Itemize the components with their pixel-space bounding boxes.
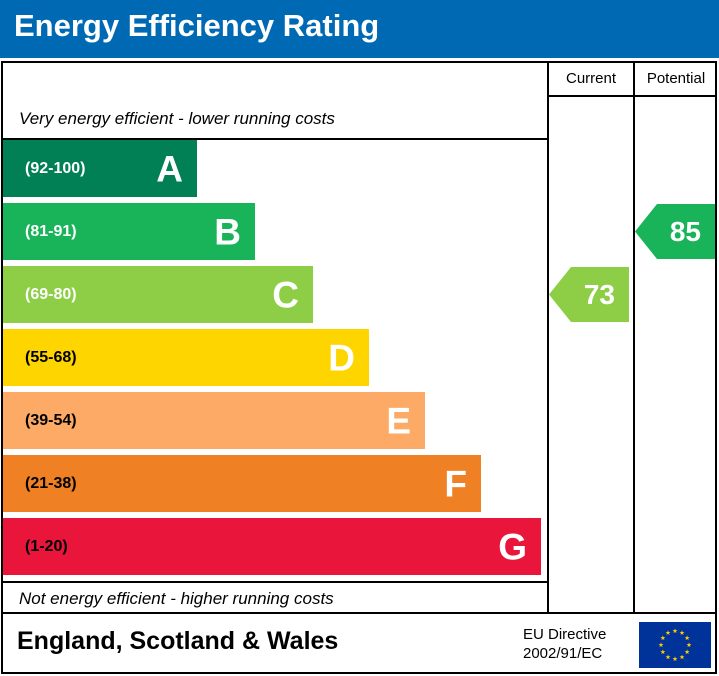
potential-rating-arrow: 85 bbox=[635, 204, 715, 259]
page-title: Energy Efficiency Rating bbox=[14, 8, 379, 44]
current-rating-value: 73 bbox=[584, 279, 615, 311]
eu-directive-line1: EU Directive bbox=[523, 625, 606, 644]
band-b: (81-91)B bbox=[3, 203, 255, 260]
band-letter-f: F bbox=[444, 465, 467, 502]
band-range-g: (1-20) bbox=[25, 538, 68, 556]
header-row-divider bbox=[547, 95, 717, 97]
chart-frame: Current Potential Very energy efficient … bbox=[1, 61, 717, 614]
band-d: (55-68)D bbox=[3, 329, 369, 386]
band-range-f: (21-38) bbox=[25, 475, 77, 493]
band-f: (21-38)F bbox=[3, 455, 481, 512]
column-header-current: Current bbox=[549, 70, 633, 87]
epc-certificate: Energy Efficiency Rating Current Potenti… bbox=[0, 0, 719, 676]
band-letter-d: D bbox=[328, 339, 355, 376]
band-letter-a: A bbox=[156, 150, 183, 187]
eu-directive-text: EU Directive 2002/91/EC bbox=[523, 625, 606, 663]
band-a: (92-100)A bbox=[3, 140, 197, 197]
band-range-d: (55-68) bbox=[25, 349, 77, 367]
band-letter-c: C bbox=[272, 276, 299, 313]
band-c: (69-80)C bbox=[3, 266, 313, 323]
band-g: (1-20)G bbox=[3, 518, 541, 575]
band-letter-g: G bbox=[498, 528, 527, 565]
band-range-b: (81-91) bbox=[25, 223, 77, 241]
caption-bottom-divider bbox=[3, 581, 547, 583]
caption-bottom: Not energy efficient - higher running co… bbox=[19, 589, 334, 609]
eu-flag-icon bbox=[639, 622, 711, 668]
band-range-c: (69-80) bbox=[25, 286, 77, 304]
region-label: England, Scotland & Wales bbox=[17, 627, 338, 656]
header-bar: Energy Efficiency Rating bbox=[0, 0, 719, 58]
column-divider-potential bbox=[633, 63, 635, 612]
band-letter-e: E bbox=[386, 402, 411, 439]
column-divider-current bbox=[547, 63, 549, 612]
current-rating-arrow: 73 bbox=[549, 267, 629, 322]
band-range-a: (92-100) bbox=[25, 160, 85, 178]
eu-directive-line2: 2002/91/EC bbox=[523, 644, 606, 663]
band-letter-b: B bbox=[214, 213, 241, 250]
potential-rating-value: 85 bbox=[670, 216, 701, 248]
band-range-e: (39-54) bbox=[25, 412, 77, 430]
caption-top: Very energy efficient - lower running co… bbox=[19, 109, 335, 129]
band-e: (39-54)E bbox=[3, 392, 425, 449]
footer-bar: England, Scotland & Wales EU Directive 2… bbox=[1, 614, 717, 674]
column-header-potential: Potential bbox=[635, 70, 717, 87]
